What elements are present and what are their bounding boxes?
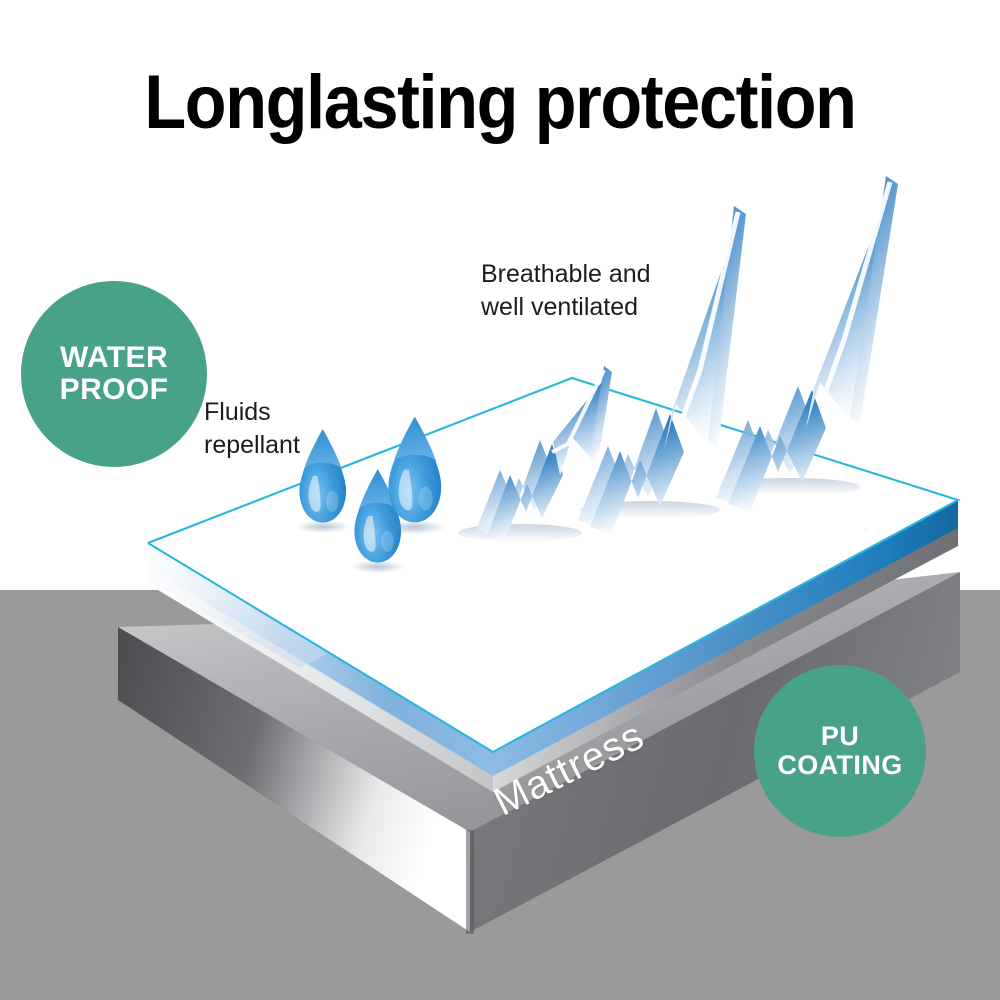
mattress-corner-highlight <box>466 830 474 934</box>
infographic-canvas: Longlasting protection WATER PROOF PU CO… <box>0 0 1000 1000</box>
droplet-1-specular <box>326 491 339 512</box>
badge-pu-coating-line2: COATING <box>777 751 902 780</box>
caption-breathable-line1: Breathable and <box>481 258 651 291</box>
badge-pu-coating-line1: PU <box>821 722 859 751</box>
caption-fluids-line2: repellant <box>204 429 300 462</box>
droplet-2-specular <box>381 531 394 552</box>
page-title: Longlasting protection <box>50 62 950 144</box>
badge-pu-coating: PU COATING <box>754 665 926 837</box>
caption-fluids-repellant: Fluids repellant <box>204 396 300 462</box>
droplet-1-top-shade <box>305 429 342 468</box>
caption-breathable-ventilated: Breathable and well ventilated <box>481 258 651 324</box>
caption-fluids-line1: Fluids <box>204 396 300 429</box>
badge-waterproof-line1: WATER <box>60 342 168 374</box>
caption-breathable-line2: well ventilated <box>481 291 651 324</box>
mattress-protector-illustration <box>0 0 1000 1000</box>
badge-waterproof-line2: PROOF <box>60 374 169 406</box>
badge-waterproof: WATER PROOF <box>21 281 207 467</box>
arrow-shadow-1 <box>458 524 582 542</box>
droplet-3-specular <box>418 486 432 510</box>
